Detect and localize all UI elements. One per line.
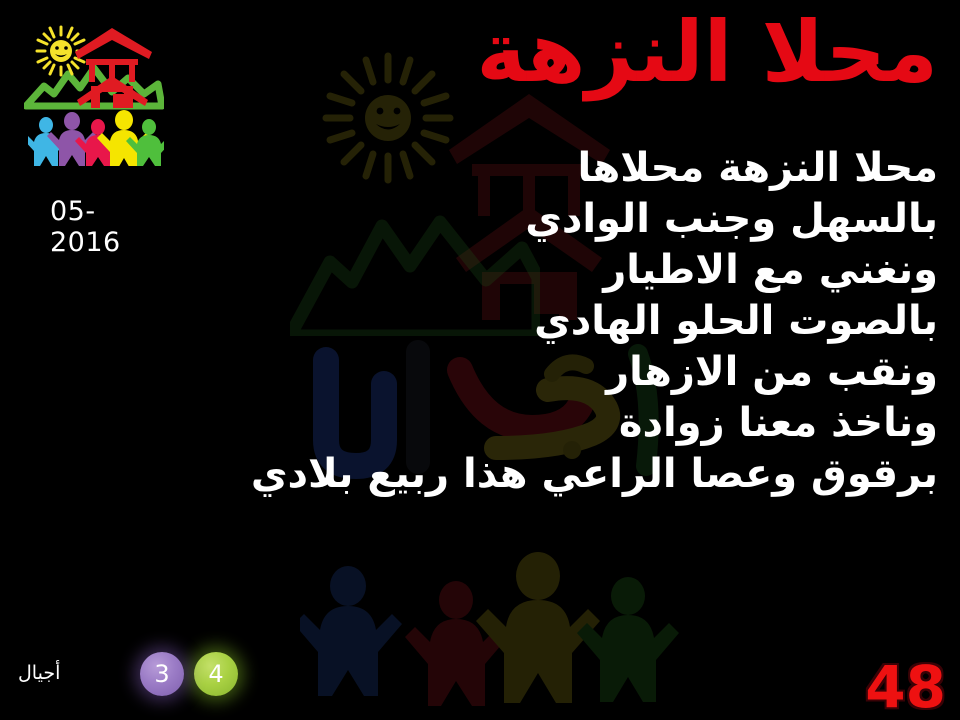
lyric-line: بالصوت الحلو الهادي bbox=[8, 296, 938, 347]
lyric-line: ونقب من الازهار bbox=[8, 347, 938, 398]
lyrics-block: محلا النزهة محلاها بالسهل وجنب الوادي ون… bbox=[8, 143, 938, 500]
lyric-line: وناخذ معنا زوادة bbox=[8, 398, 938, 449]
page-title: محلا النزهة bbox=[476, 8, 938, 96]
lyric-line: محلا النزهة محلاها bbox=[8, 143, 938, 194]
lyric-line: برقوق وعصا الراعي هذا ربيع بلادي bbox=[8, 449, 938, 500]
lyric-line: ونغني مع الاطيار bbox=[8, 245, 938, 296]
logo-sun-tower-mountains bbox=[24, 22, 164, 110]
badge-track-3[interactable]: 3 bbox=[140, 652, 184, 696]
page-number: 48 bbox=[865, 658, 946, 716]
watermark-people-chain-icon bbox=[300, 548, 700, 708]
brand-label: أجيال bbox=[18, 662, 60, 684]
lyrics-slide: 05-2016 محلا النزهة محلا النزهة محلاها ب… bbox=[0, 0, 960, 720]
badge-track-4[interactable]: 4 bbox=[194, 652, 238, 696]
lyric-line: بالسهل وجنب الوادي bbox=[8, 194, 938, 245]
badge-group: 4 3 bbox=[140, 652, 238, 696]
